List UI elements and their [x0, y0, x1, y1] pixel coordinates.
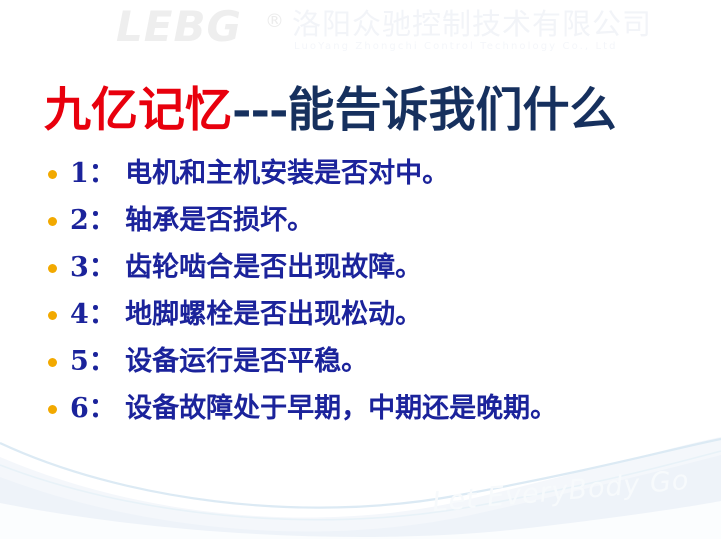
list-item-label: 4： 地脚螺栓是否出现松动。	[70, 301, 422, 328]
bullet-dot-icon	[48, 170, 57, 179]
title-separator: ---	[232, 83, 288, 138]
title-rest: 能告诉我们什么	[288, 83, 617, 138]
list-item-label: 6： 设备故障处于早期，中期还是晚期。	[70, 395, 557, 422]
wave-line-lower	[0, 451, 721, 520]
list-item-label: 2： 轴承是否损坏。	[70, 207, 314, 234]
page-title: 九亿记忆---能告诉我们什么	[44, 83, 617, 138]
title-highlight: 九亿记忆	[44, 83, 232, 138]
bullet-dot-icon	[48, 358, 57, 367]
wave-shape-back	[0, 437, 721, 539]
slide-canvas: LEBG ® 洛阳众驰控制技术有限公司 LuoYang Zhongchi Con…	[0, 0, 721, 539]
list-item-label: 3： 齿轮啮合是否出现故障。	[70, 254, 422, 281]
decorative-wave-graphic	[0, 429, 721, 539]
bullet-list: 1： 电机和主机安装是否对中。 2： 轴承是否损坏。 3： 齿轮啮合是否出现故障…	[48, 150, 698, 432]
bullet-dot-icon	[48, 311, 57, 320]
registered-trademark-icon: ®	[265, 12, 284, 31]
company-name-english: LuoYang Zhongchi Control Technology Co.,…	[294, 42, 618, 52]
list-item: 2： 轴承是否损坏。	[48, 197, 698, 244]
bullet-dot-icon	[48, 264, 57, 273]
wave-watermark-text: Let EveryBody Go	[431, 465, 690, 518]
list-item: 3： 齿轮啮合是否出现故障。	[48, 244, 698, 291]
wave-shape-front	[0, 501, 721, 539]
bullet-dot-icon	[48, 217, 57, 226]
list-item: 5： 设备运行是否平稳。	[48, 338, 698, 385]
company-watermark: LEBG ® 洛阳众驰控制技术有限公司 LuoYang Zhongchi Con…	[0, 0, 721, 62]
wave-line-upper	[0, 439, 721, 508]
bullet-dot-icon	[48, 405, 57, 414]
list-item: 6： 设备故障处于早期，中期还是晚期。	[48, 385, 698, 432]
list-item-label: 1： 电机和主机安装是否对中。	[70, 160, 449, 187]
list-item: 4： 地脚螺栓是否出现松动。	[48, 291, 698, 338]
company-name-chinese: 洛阳众驰控制技术有限公司	[292, 9, 652, 41]
list-item-label: 5： 设备运行是否平稳。	[70, 348, 368, 375]
wave-shape-mid	[0, 455, 721, 539]
list-item: 1： 电机和主机安装是否对中。	[48, 150, 698, 197]
lebg-logo-text: LEBG	[116, 6, 242, 48]
